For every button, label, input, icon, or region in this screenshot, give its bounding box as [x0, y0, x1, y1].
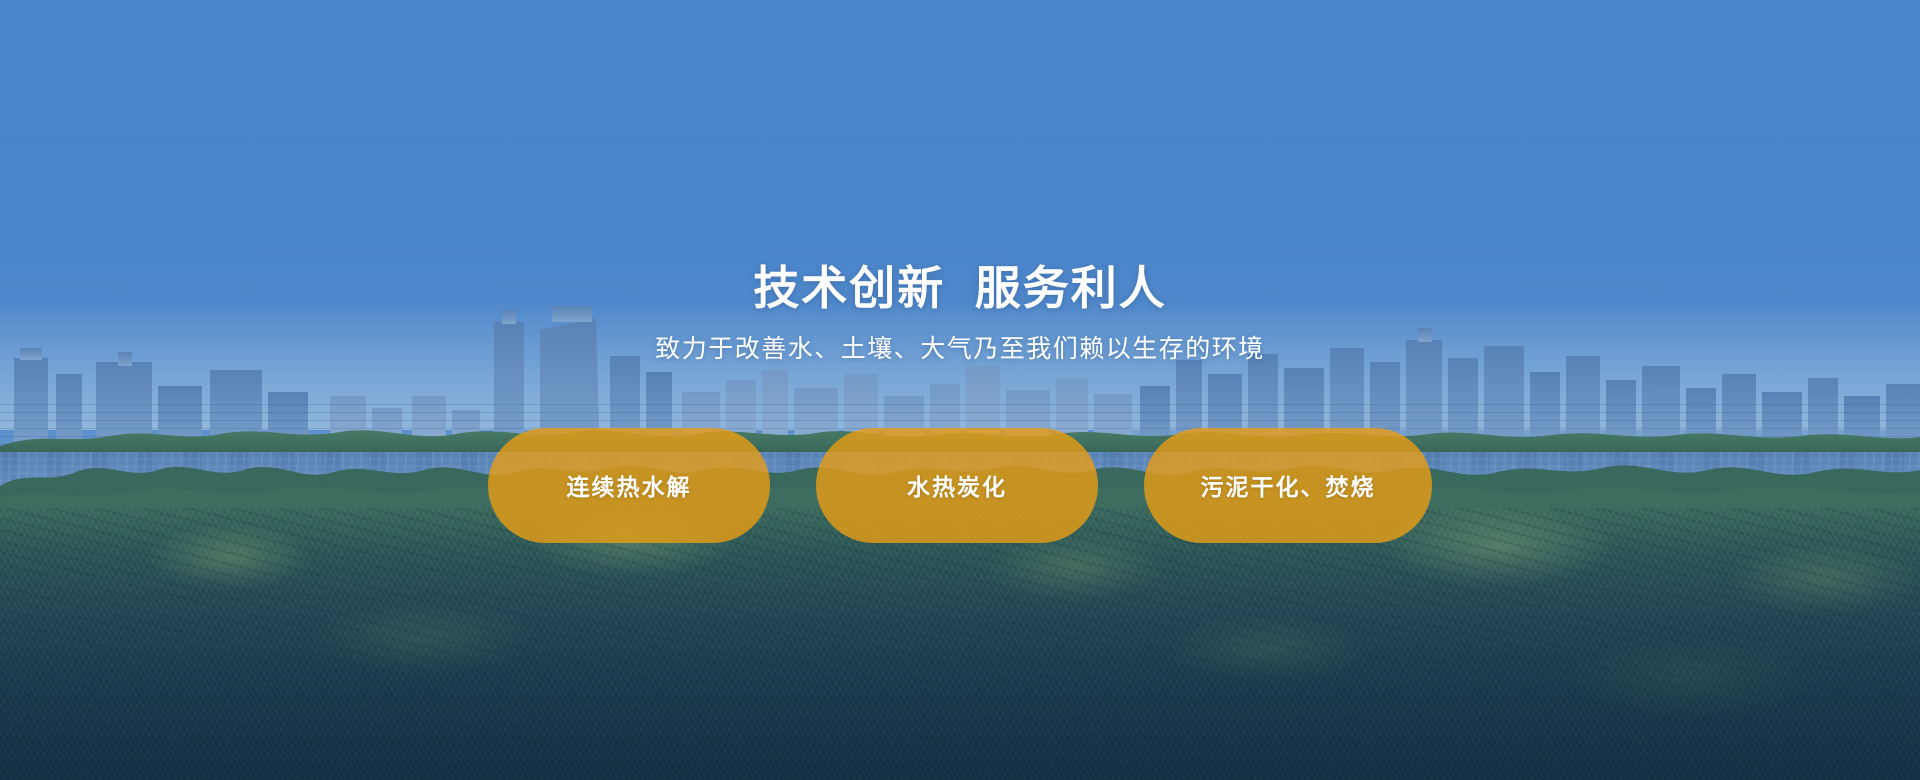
hero-content: 技术创新 服务利人 致力于改善水、土壤、大气乃至我们赖以生存的环境 连续热水解 … — [0, 0, 1920, 780]
service-button-continuous-thermal-hydrolysis[interactable]: 连续热水解 — [488, 428, 770, 543]
service-button-sludge-drying-incineration[interactable]: 污泥干化、焚烧 — [1144, 428, 1432, 543]
page-title: 技术创新 服务利人 — [753, 262, 1167, 315]
service-button-hydrothermal-carbonization[interactable]: 水热炭化 — [816, 428, 1098, 543]
service-button-row: 连续热水解 水热炭化 污泥干化、焚烧 — [488, 428, 1432, 543]
hero-subtitle: 致力于改善水、土壤、大气乃至我们赖以生存的环境 — [655, 333, 1265, 366]
service-button-label: 污泥干化、焚烧 — [1201, 468, 1376, 502]
service-button-label: 连续热水解 — [567, 468, 692, 502]
hero-banner: 技术创新 服务利人 致力于改善水、土壤、大气乃至我们赖以生存的环境 连续热水解 … — [0, 0, 1920, 780]
service-button-label: 水热炭化 — [907, 468, 1007, 502]
